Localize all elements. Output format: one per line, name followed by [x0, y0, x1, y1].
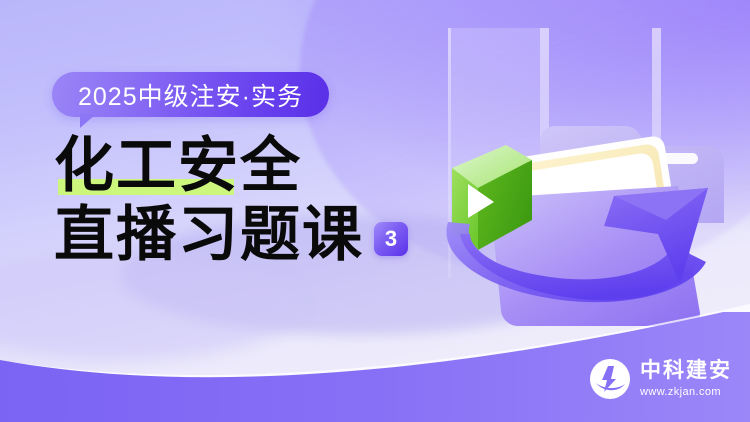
- course-badge-wrap: 2025中级注安·实务: [52, 72, 329, 117]
- title-line-1-text: 化工安全: [54, 133, 302, 199]
- brand-name-cn: 中科建安: [640, 360, 732, 382]
- title-line-1: 化工安全: [54, 134, 472, 199]
- brand-logo: 中科建安 www.zkjan.com: [589, 358, 732, 400]
- title-line-2-text: 直播习题课: [54, 203, 364, 268]
- episode-number-badge: 3: [374, 222, 408, 256]
- banner-copy: 2025中级注安·实务 化工安全 直播习题课 3: [52, 72, 472, 268]
- brand-url: www.zkjan.com: [640, 386, 732, 398]
- course-banner: 2025中级注安·实务 化工安全 直播习题课 3 中科建安 www.zkjan.…: [0, 0, 750, 422]
- course-badge: 2025中级注安·实务: [52, 72, 329, 117]
- zkjan-circle-mark: [589, 358, 631, 400]
- course-badge-tail: [80, 114, 96, 128]
- logo-text: 中科建安 www.zkjan.com: [640, 360, 732, 397]
- headline: 化工安全 直播习题课 3: [52, 134, 472, 268]
- title-line-2: 直播习题课 3: [54, 203, 472, 268]
